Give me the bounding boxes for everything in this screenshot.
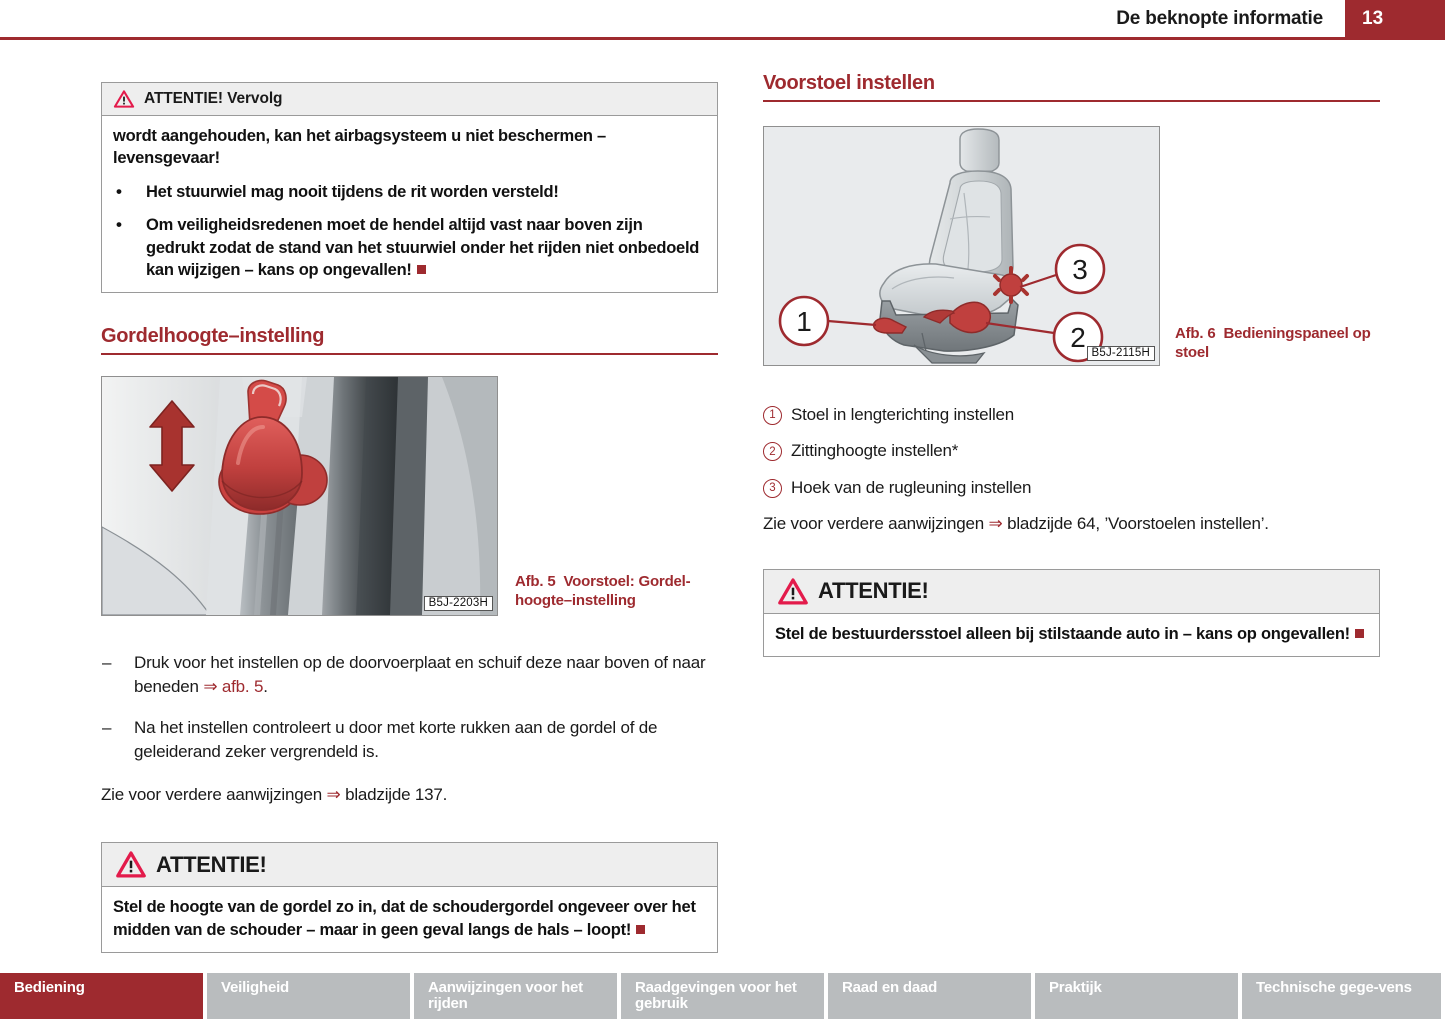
figure-6-code: B5J-2115H	[1087, 346, 1155, 361]
figure-5-caption-number: Afb. 5	[515, 573, 555, 590]
section-voorstoel: Voorstoel instellen	[763, 72, 1380, 102]
section-divider	[101, 353, 718, 355]
footer-tab-bar: Bediening Veiligheid Aanwijzingen voor h…	[0, 973, 1445, 1019]
figure-6-container: 1 2 3 B5J-2115H Afb. 6Bedieningspaneel o…	[763, 126, 1380, 366]
warning-text: Stel de bestuurdersstoel alleen bij stil…	[775, 625, 1350, 643]
footer-tab-aanwijzingen[interactable]: Aanwijzingen voor het rijden	[414, 973, 617, 1019]
instruction-item: – Na het instellen controleert u door me…	[101, 716, 718, 764]
callout-number-1: 1	[763, 406, 782, 425]
front-seat-controls-illustration: 1 2 3	[764, 127, 1159, 365]
figure-6-image: 1 2 3 B5J-2115H	[763, 126, 1160, 366]
warning-intro-text: wordt aangehouden, kan het airbagsysteem…	[113, 125, 705, 170]
instruction-text-after: .	[263, 677, 268, 696]
list-item: 1 Stoel in lengterichting instellen	[763, 403, 1380, 428]
see-also-line: Zie voor verdere aanwijzingen ⇒ bladzijd…	[101, 783, 718, 807]
see-also-reference: bladzijde 137.	[341, 785, 448, 804]
section-heading: Gordelhoogte–instelling	[101, 325, 718, 353]
warning-box-body: Stel de bestuurdersstoel alleen bij stil…	[764, 614, 1379, 656]
figure-6-caption-number: Afb. 6	[1175, 325, 1215, 342]
warning-text: Stel de hoogte van de gordel zo in, dat …	[113, 898, 696, 938]
dash-marker: –	[101, 716, 134, 764]
footer-tab-veiligheid[interactable]: Veiligheid	[207, 973, 410, 1019]
footer-tab-raadgevingen[interactable]: Raadgevingen voor het gebruik	[621, 973, 824, 1019]
end-mark	[417, 265, 426, 274]
warning-box-belt-height: ATTENTIE! Stel de hoogte van de gordel z…	[101, 842, 718, 953]
warning-box-title: ATTENTIE!	[156, 852, 267, 878]
warning-box-header: ATTENTIE! Vervolg	[102, 83, 717, 116]
instruction-item: – Druk voor het instellen op de doorvoer…	[101, 651, 718, 699]
footer-tab-raad-en-daad[interactable]: Raad en daad	[828, 973, 1031, 1019]
warning-box-title: ATTENTIE! Vervolg	[144, 90, 282, 108]
figure-6-caption: Afb. 6Bedieningspaneel op stoel	[1175, 324, 1380, 362]
warning-box-title: ATTENTIE!	[818, 578, 929, 604]
footer-tab-bediening[interactable]: Bediening	[0, 973, 203, 1019]
svg-text:2: 2	[1070, 322, 1086, 353]
section-divider	[763, 100, 1380, 102]
figure-5-caption: Afb. 5Voorstoel: Gordel-hoogte–instellin…	[515, 572, 715, 610]
footer-tab-technische-gegevens[interactable]: Technische gege-vens	[1242, 973, 1441, 1019]
cross-reference-arrow-icon: ⇒	[989, 514, 1003, 533]
warning-box-header: ATTENTIE!	[102, 843, 717, 887]
warning-box-body: Stel de hoogte van de gordel zo in, dat …	[102, 887, 717, 952]
left-column: ATTENTIE! Vervolg wordt aangehouden, kan…	[101, 82, 718, 953]
header-divider	[0, 37, 1445, 40]
callout-number-3: 3	[763, 479, 782, 498]
page-header: De beknopte informatie 13	[0, 0, 1445, 37]
page-title: De beknopte informatie	[1116, 0, 1345, 37]
list-item-label: Hoek van de rugleuning instellen	[791, 476, 1031, 501]
see-also-reference: bladzijde 64, ’Voorstoelen instellen’.	[1003, 514, 1269, 533]
figure-callout-1: 1	[780, 297, 828, 345]
warning-triangle-icon	[115, 850, 147, 879]
figure-5-image: B5J-2203H	[101, 376, 498, 616]
end-mark	[1355, 629, 1364, 638]
svg-text:1: 1	[796, 306, 812, 337]
figure-callout-3: 3	[1056, 245, 1104, 293]
right-column: Voorstoel instellen	[763, 72, 1380, 657]
figure-5-code: B5J-2203H	[424, 596, 493, 611]
footer-tab-praktijk[interactable]: Praktijk	[1035, 973, 1238, 1019]
warning-box-continued: ATTENTIE! Vervolg wordt aangehouden, kan…	[101, 82, 718, 293]
section-heading: Voorstoel instellen	[763, 72, 1380, 100]
bullet-marker: •	[113, 181, 146, 204]
warning-box-driver-seat: ATTENTIE! Stel de bestuurdersstoel allee…	[763, 569, 1380, 657]
list-item-label: Zittinghoogte instellen*	[791, 439, 958, 464]
cross-reference-arrow-icon: ⇒	[327, 785, 341, 804]
bullet-text: Het stuurwiel mag nooit tijdens de rit w…	[146, 181, 705, 204]
see-also-line: Zie voor verdere aanwijzingen ⇒ bladzijd…	[763, 512, 1380, 536]
figure-5-container: B5J-2203H Afb. 5Voorstoel: Gordel-hoogte…	[101, 376, 718, 616]
list-item: 2 Zittinghoogte instellen*	[763, 439, 1380, 464]
warning-box-body: wordt aangehouden, kan het airbagsysteem…	[102, 116, 717, 292]
warning-bullet-item: • Om veiligheidsredenen moet de hendel a…	[113, 214, 705, 281]
warning-bullet-item: • Het stuurwiel mag nooit tijdens de rit…	[113, 181, 705, 204]
instruction-list: – Druk voor het instellen op de doorvoer…	[101, 651, 718, 765]
see-also-text: Zie voor verdere aanwijzingen	[101, 785, 327, 804]
bullet-marker: •	[113, 214, 146, 281]
see-also-text: Zie voor verdere aanwijzingen	[763, 514, 989, 533]
callout-number-2: 2	[763, 442, 782, 461]
list-item: 3 Hoek van de rugleuning instellen	[763, 476, 1380, 501]
page-number: 13	[1345, 0, 1445, 37]
section-gordelhoogte: Gordelhoogte–instelling	[101, 325, 718, 355]
cross-reference-link[interactable]: afb. 5	[217, 677, 263, 696]
list-item-label: Stoel in lengterichting instellen	[791, 403, 1014, 428]
dash-marker: –	[101, 651, 134, 699]
instruction-text: Na het instellen controleert u door met …	[134, 716, 718, 764]
svg-text:3: 3	[1072, 254, 1088, 285]
seat-control-list: 1 Stoel in lengterichting instellen 2 Zi…	[763, 403, 1380, 501]
seat-belt-height-adjuster-illustration	[102, 377, 497, 615]
warning-triangle-icon	[777, 577, 809, 606]
warning-box-header: ATTENTIE!	[764, 570, 1379, 614]
warning-triangle-icon	[113, 89, 135, 109]
end-mark	[636, 925, 645, 934]
cross-reference-arrow-icon: ⇒	[203, 677, 217, 696]
